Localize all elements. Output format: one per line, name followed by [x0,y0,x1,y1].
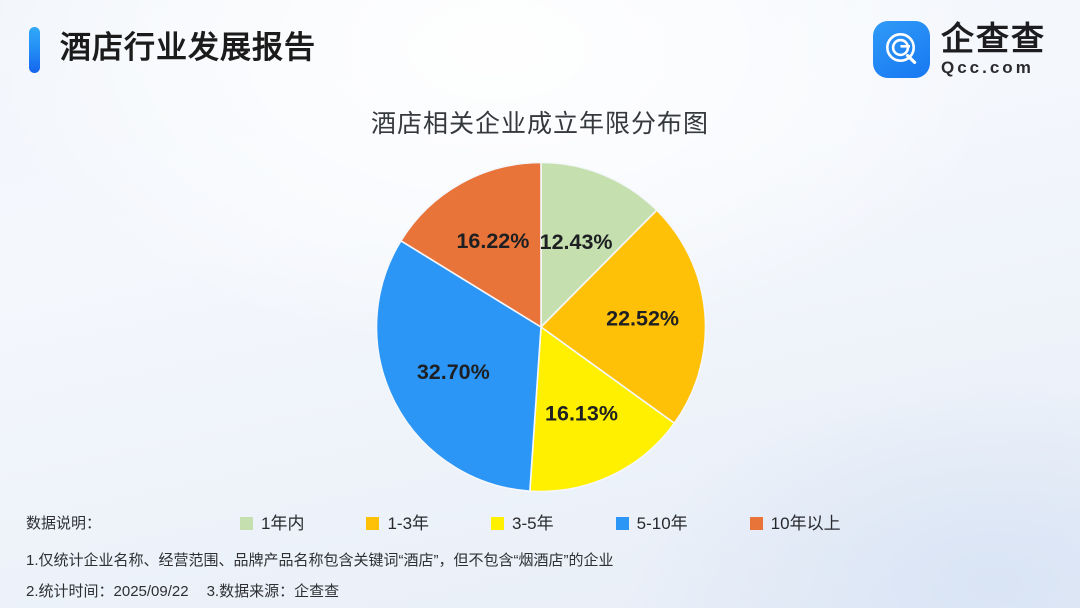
legend-swatch-icon [750,517,763,530]
chart-title: 酒店相关企业成立年限分布图 [0,104,1080,140]
footnote-stat-time: 2.统计时间：2025/09/22 [26,580,189,601]
pie-slice-label: 16.22% [456,229,529,253]
footnote-data-source: 3.数据来源：企查查 [207,580,340,601]
legend-item-label: 3-5年 [512,515,554,532]
legend-item[interactable]: 5-10年 [616,515,688,532]
legend-swatch-icon [366,517,379,530]
legend-swatch-icon [616,517,629,530]
legend-item[interactable]: 1年内 [240,515,304,532]
pie-slice-label: 12.43% [540,230,613,254]
legend-swatch-icon [491,517,504,530]
pie-slice-label: 16.13% [545,401,618,425]
logo-text-cn: 企查查 [941,22,1046,55]
footnote-label: 数据说明： [26,512,101,533]
qcc-logo-icon [873,21,930,78]
logo-wordmark: 企查查 Qcc.com [941,22,1046,76]
pie-slice-label: 22.52% [606,307,679,331]
footnote-line-2: 2.统计时间：2025/09/22 3.数据来源：企查查 [26,580,339,601]
report-page: 酒店行业发展报告 企查查 Qcc.com 酒店相关企业成立年限分布图 12.43… [0,0,1080,608]
pie-chart: 12.43%22.52%16.13%32.70%16.22% [376,162,706,492]
legend-item[interactable]: 1-3年 [366,515,429,532]
legend-item[interactable]: 3-5年 [491,515,554,532]
footnote-line-1: 1.仅统计企业名称、经营范围、品牌产品名称包含关键词“酒店”，但不包含“烟酒店”… [26,549,614,570]
page-header: 酒店行业发展报告 企查查 Qcc.com [0,0,1080,96]
legend-item-label: 1年内 [261,515,304,532]
title-accent-bar [29,27,40,73]
legend-item-label: 1-3年 [387,515,429,532]
logo-text-en: Qcc.com [941,59,1046,76]
page-title: 酒店行业发展报告 [60,24,316,72]
brand-logo: 企查查 Qcc.com [873,19,1046,79]
pie-slice-label: 32.70% [417,360,490,384]
legend-item-label: 5-10年 [637,515,688,532]
legend-swatch-icon [240,517,253,530]
legend-item[interactable]: 10年以上 [750,515,841,532]
legend-item-label: 10年以上 [771,515,841,532]
chart-legend: 1年内1-3年3-5年5-10年10年以上 [240,510,860,536]
